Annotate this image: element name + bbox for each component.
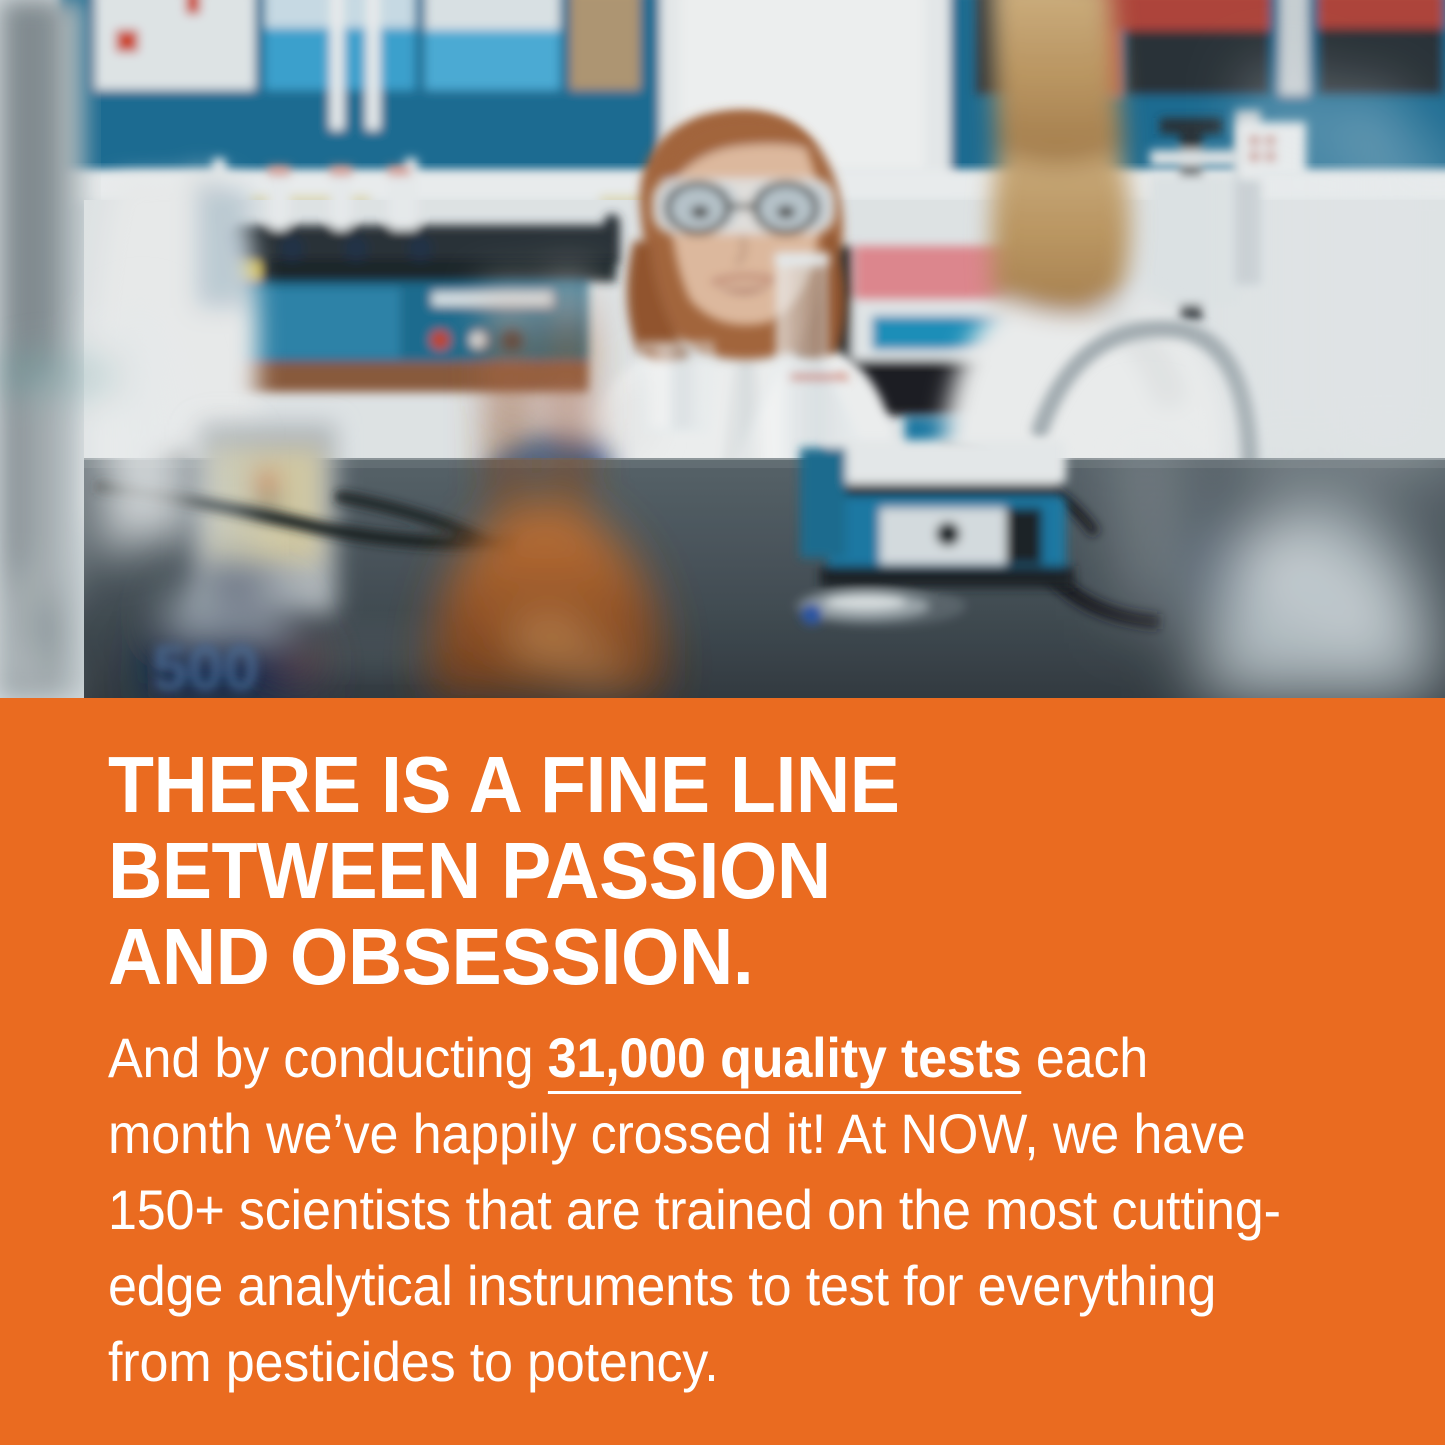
body-copy: And by conducting 31,000 quality tests e…	[108, 1020, 1289, 1400]
headline: THERE IS A FINE LINE BETWEEN PASSION AND…	[108, 742, 1274, 1000]
promo-card: 500 THERE IS A FINE LINE BETWEEN PASSION…	[0, 0, 1445, 1445]
body-copy-before: And by conducting	[108, 1026, 548, 1089]
lab-photo-illustration: 500	[0, 0, 1445, 698]
orange-text-panel: THERE IS A FINE LINE BETWEEN PASSION AND…	[0, 698, 1445, 1445]
lab-photo: 500	[0, 0, 1445, 698]
quality-tests-emphasis: 31,000 quality tests	[548, 1026, 1022, 1094]
